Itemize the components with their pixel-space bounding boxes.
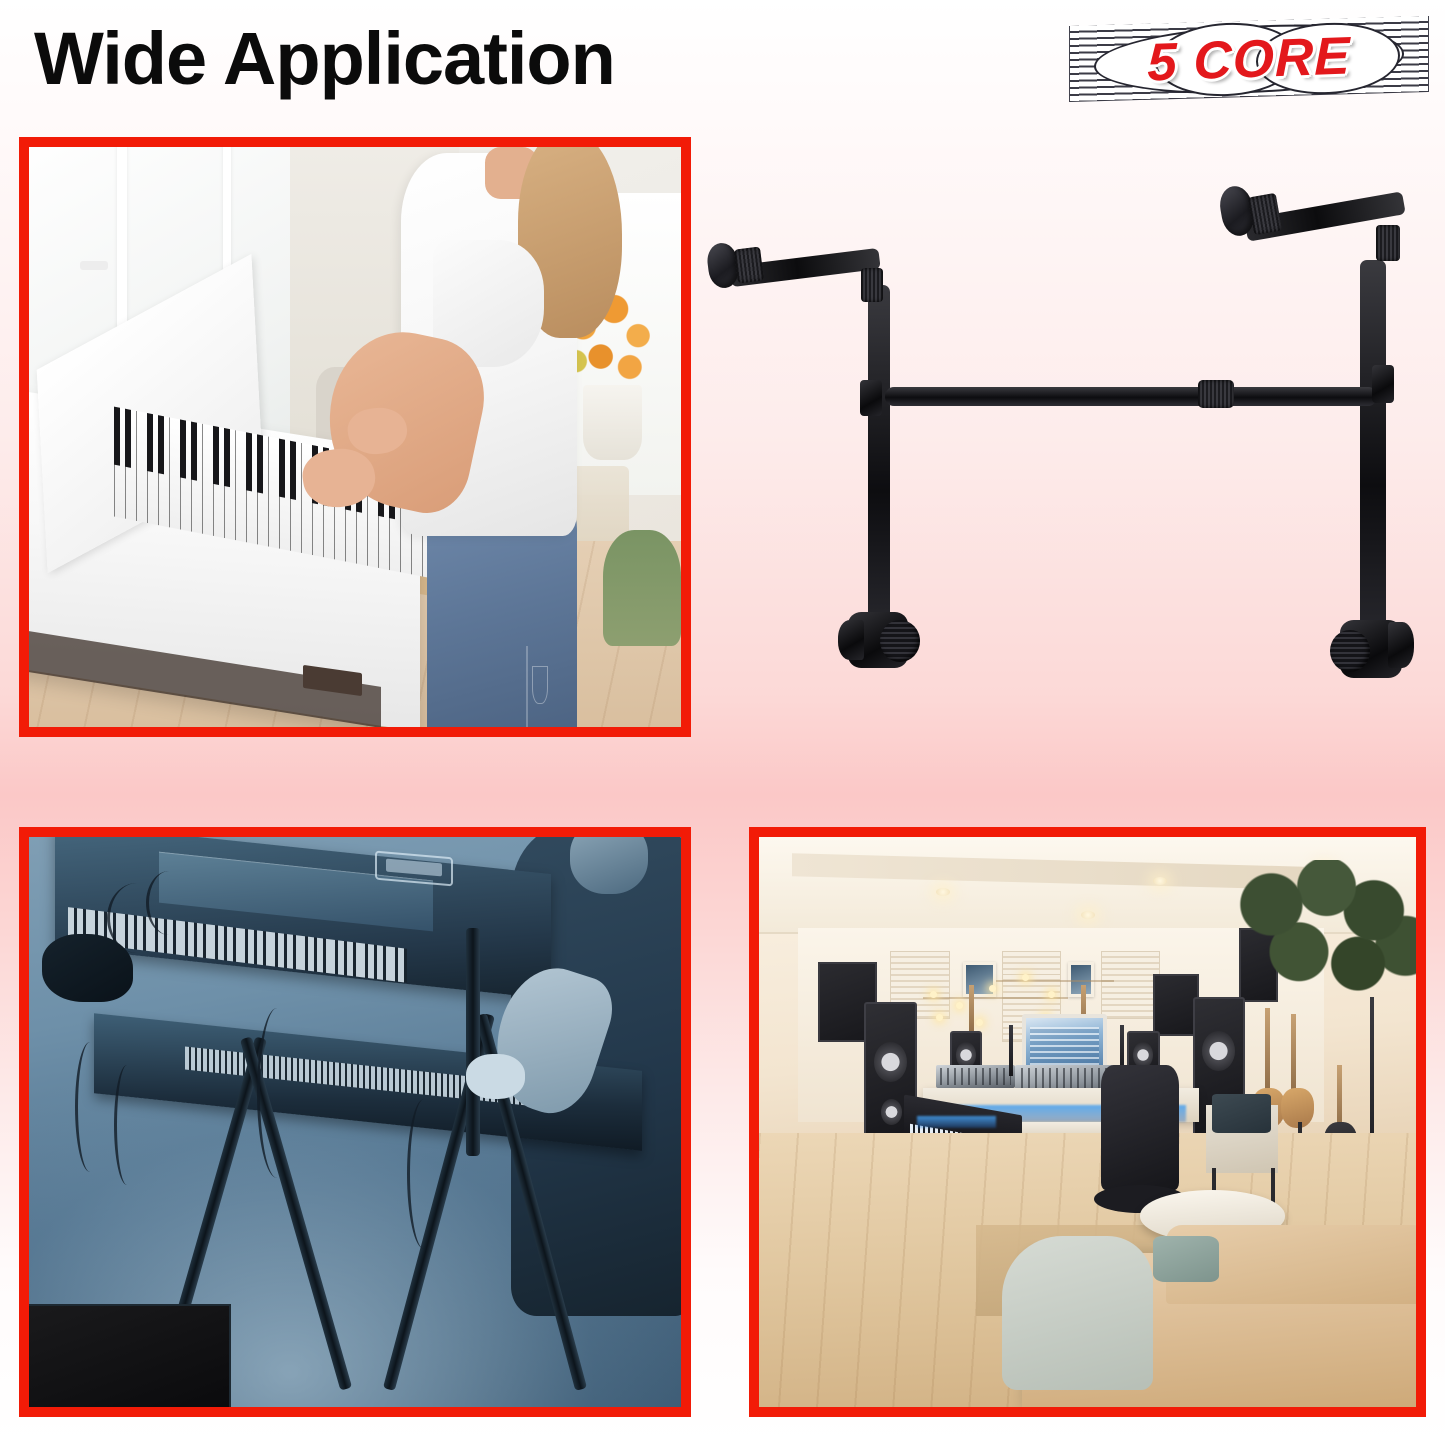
left-clamp-hook xyxy=(838,620,864,660)
stage-background xyxy=(29,837,681,1407)
page-title: Wide Application xyxy=(34,22,615,96)
home-piano-scene xyxy=(19,137,691,737)
musician-right-hand xyxy=(466,1054,525,1100)
stage-monitor-wedge xyxy=(29,1304,231,1407)
teal-pillow xyxy=(1153,1236,1219,1282)
hanging-foliage xyxy=(1232,860,1416,1008)
potted-plant xyxy=(603,530,681,646)
stand-upright xyxy=(466,928,480,1156)
acoustic-panel-3 xyxy=(1101,951,1160,1019)
studio-background xyxy=(759,837,1416,1407)
left-arm-collar-knob xyxy=(861,268,883,302)
keyboard-stand-second-tier-product xyxy=(700,150,1440,720)
crossbar-lock-collar xyxy=(1198,380,1234,408)
jeans-pocket xyxy=(532,666,548,705)
ceiling-light-2 xyxy=(1081,911,1095,919)
right-clamp-knob xyxy=(1330,630,1370,672)
nearfield-right-cone xyxy=(1133,1042,1153,1068)
string-lights-wire xyxy=(923,997,1068,999)
window-handle xyxy=(80,261,108,270)
right-arm-collar-knob xyxy=(1376,225,1400,261)
patch-cable-4 xyxy=(114,1065,140,1185)
nearfield-left-cone xyxy=(956,1042,976,1068)
throw-blanket xyxy=(1002,1236,1153,1390)
musician-left-hand xyxy=(42,934,133,1002)
crossbar-left-bracket xyxy=(860,380,882,416)
midi-controller[interactable] xyxy=(936,1065,1015,1088)
string-lights-wire-2 xyxy=(996,980,1114,982)
brand-name-text: 5 CORE xyxy=(1069,15,1429,104)
patch-cable-6 xyxy=(407,1099,441,1249)
keyboard-led-glow xyxy=(917,1116,996,1127)
left-arm-knob xyxy=(734,247,764,284)
right-arm-knob xyxy=(1248,193,1282,235)
home-recording-studio-scene xyxy=(749,827,1426,1417)
fairy-bulb-4 xyxy=(1022,974,1029,981)
five-core-logo-icon: 5 CORE xyxy=(1069,21,1429,97)
left-clamp-knob xyxy=(880,620,920,662)
patch-cable-3 xyxy=(75,1042,105,1172)
desk-mic-stand-left xyxy=(1009,1025,1013,1076)
right-support-column xyxy=(1360,260,1386,670)
live-stage-scene xyxy=(19,827,691,1417)
fairy-bulb-5 xyxy=(1048,991,1055,998)
side-chair-cushion xyxy=(1212,1094,1271,1134)
floor-guitar-neck-2 xyxy=(1291,1014,1296,1100)
patch-cable-5 xyxy=(257,1008,297,1178)
wall-guitar-neck-1 xyxy=(969,985,974,1036)
jeans-seam xyxy=(526,646,528,727)
left-support-column xyxy=(868,285,890,660)
fairy-bulb-1 xyxy=(930,991,937,998)
office-chair xyxy=(1101,1065,1180,1190)
flower-vase xyxy=(583,385,642,460)
monitor-left-tweeter xyxy=(881,1099,902,1125)
monitor-right-woofer xyxy=(1202,1031,1235,1071)
right-clamp-hook xyxy=(1388,622,1414,668)
home-interior-background xyxy=(29,147,681,727)
ceiling-light-3 xyxy=(1153,877,1167,885)
monitor-left-woofer xyxy=(874,1042,907,1082)
adjustable-crossbar xyxy=(885,387,1377,406)
floor-guitar-neck-1 xyxy=(1265,1008,1270,1099)
crossbar-right-bracket xyxy=(1372,365,1394,403)
